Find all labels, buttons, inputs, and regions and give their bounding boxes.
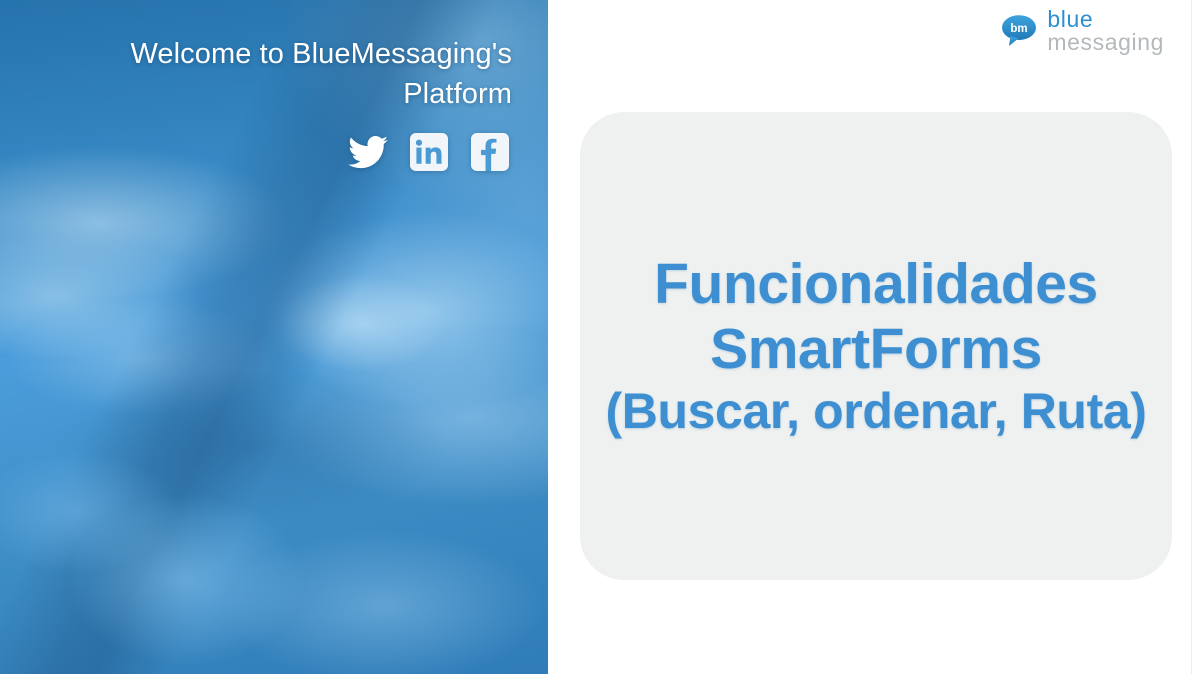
slide-title-line-3: (Buscar, ordenar, Ruta) [606, 382, 1147, 440]
right-edge-divider [1191, 0, 1192, 674]
slide-title-line-2: SmartForms [606, 317, 1147, 382]
slide-title-line-1: Funcionalidades [606, 252, 1147, 317]
left-hero-panel: Welcome to BlueMessaging's Platform [0, 0, 548, 674]
social-links-row [36, 130, 512, 174]
linkedin-icon[interactable] [407, 130, 451, 174]
logo-word-blue: blue [1047, 8, 1164, 31]
twitter-icon[interactable] [346, 130, 390, 174]
speech-bubble-icon: bm [1000, 14, 1038, 47]
logo-wordmark: blue messaging [1047, 8, 1164, 53]
slide-title-block: Funcionalidades SmartForms (Buscar, orde… [606, 252, 1147, 440]
slide-title-card: Funcionalidades SmartForms (Buscar, orde… [580, 112, 1172, 580]
facebook-icon[interactable] [468, 130, 512, 174]
slide-stage: Welcome to BlueMessaging's Platform [0, 0, 1200, 674]
logo-mark-text: bm [1011, 23, 1028, 35]
logo-word-messaging: messaging [1047, 31, 1164, 54]
bluemessaging-logo[interactable]: bm blue messaging [1000, 8, 1164, 53]
right-content-panel: bm blue messaging Funcionalidades SmartF… [548, 0, 1200, 674]
welcome-heading: Welcome to BlueMessaging's Platform [36, 34, 512, 114]
hero-content: Welcome to BlueMessaging's Platform [0, 0, 548, 174]
